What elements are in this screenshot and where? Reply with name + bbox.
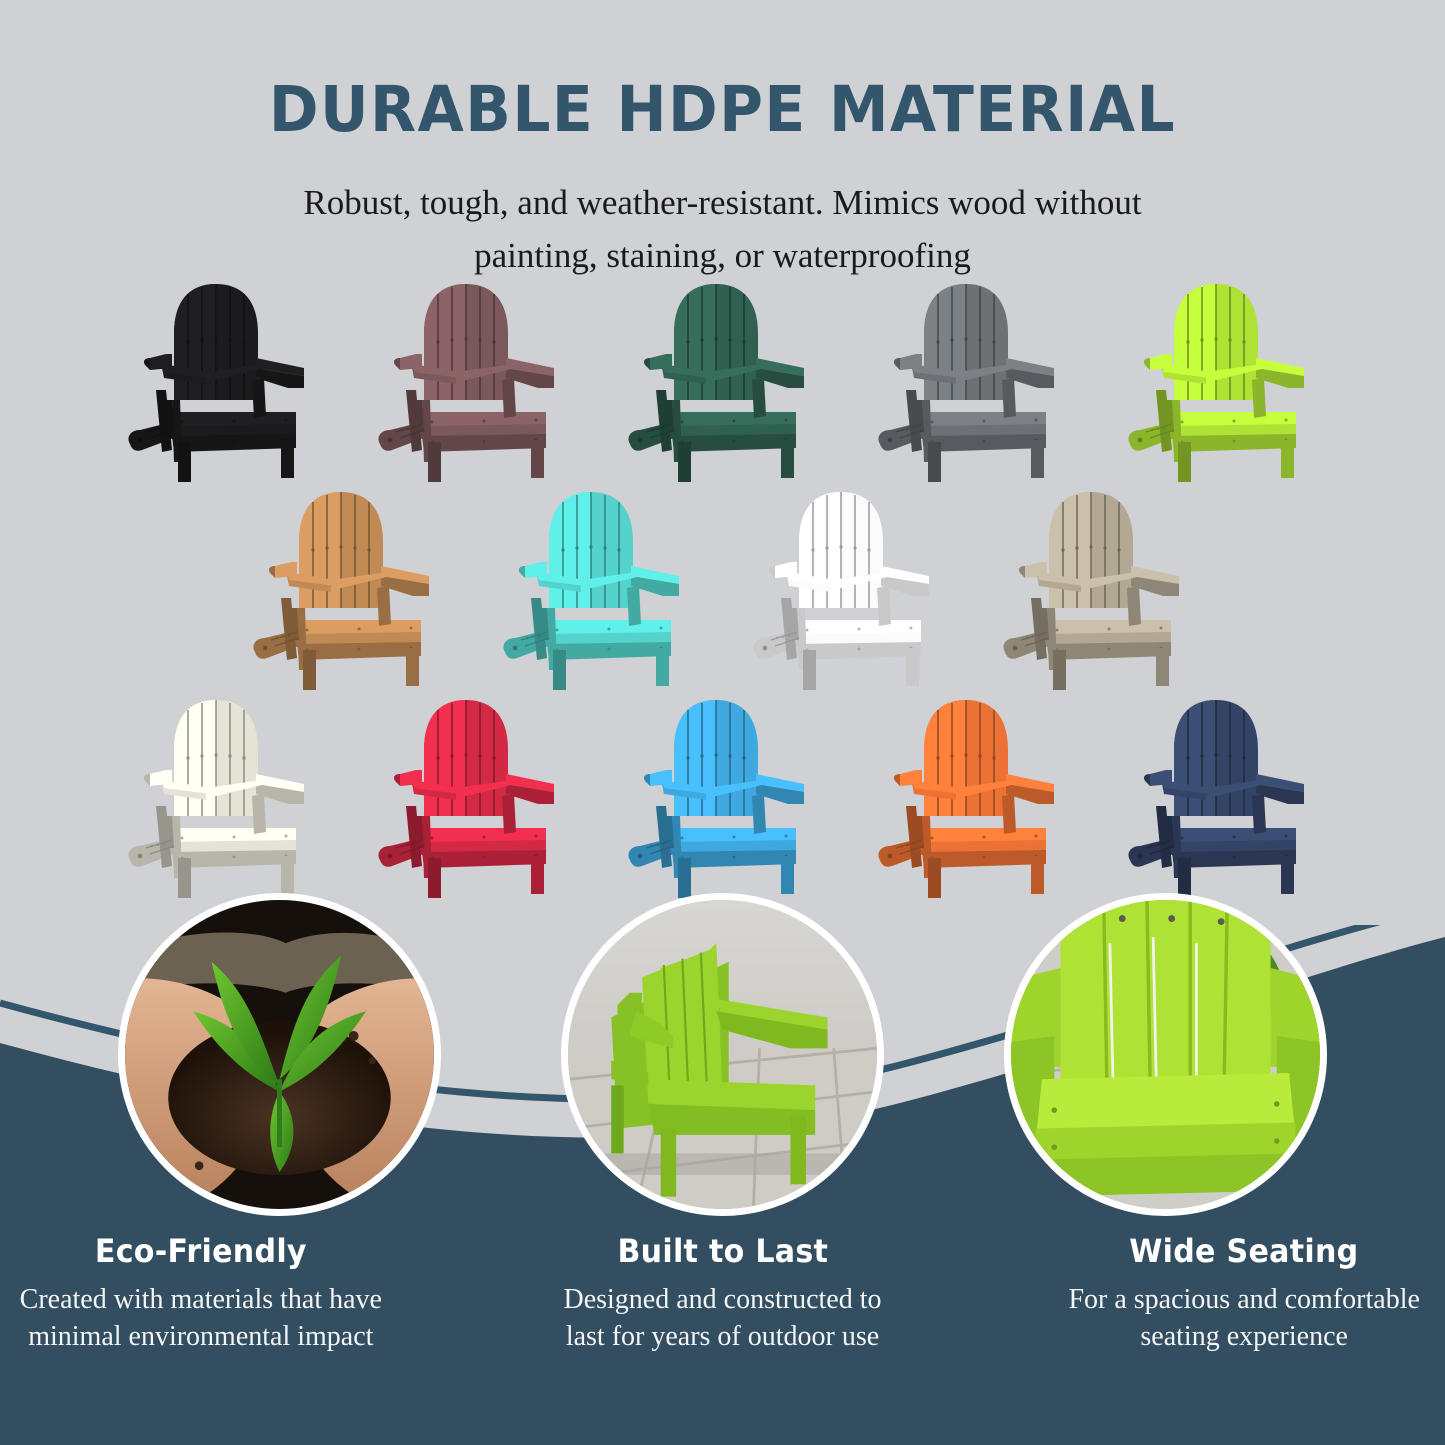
- chair-swatch-orange[interactable]: [866, 688, 1080, 900]
- feature-body: Created with materials that have minimal…: [0, 1282, 402, 1356]
- feature-body-line-1: For a spacious and comfortable: [1043, 1282, 1445, 1319]
- chair-back: [424, 284, 508, 400]
- chair-color-grid: [0, 272, 1445, 900]
- feature-body-line-2: last for years of outdoor use: [522, 1319, 924, 1356]
- chair-back: [1049, 492, 1133, 608]
- feature-body: For a spacious and comfortable seating e…: [1043, 1282, 1445, 1356]
- feature-body-line-2: seating experience: [1043, 1319, 1445, 1356]
- chair-svg: [366, 272, 580, 484]
- chair-back: [1174, 284, 1258, 400]
- chair-svg: [491, 480, 705, 692]
- chair-svg: [991, 480, 1205, 692]
- chair-swatch-weathered-wood[interactable]: [991, 480, 1205, 692]
- chair-swatch-red[interactable]: [366, 688, 580, 900]
- chair-svg: [116, 272, 330, 484]
- feature-body: Designed and constructed to last for yea…: [522, 1282, 924, 1356]
- header: DURABLE HDPE MATERIAL Robust, tough, and…: [0, 0, 1445, 282]
- page-subtitle: Robust, tough, and weather-resistant. Mi…: [0, 177, 1445, 282]
- chair-back: [924, 700, 1008, 816]
- chair-row-1: [0, 272, 1445, 484]
- chair-row-2: [0, 480, 1445, 692]
- chair-svg: [616, 272, 830, 484]
- feature-body-line-1: Designed and constructed to: [522, 1282, 924, 1319]
- feature-photo-built-to-last: [561, 893, 884, 1216]
- subtitle-line-1: Robust, tough, and weather-resistant. Mi…: [0, 177, 1445, 230]
- chair-svg: [1116, 272, 1330, 484]
- chair-swatch-black[interactable]: [116, 272, 330, 484]
- chair-back: [299, 492, 383, 608]
- feature-photo-row: [0, 893, 1445, 1216]
- feature-caption-eco-friendly: Eco-Friendly Created with materials that…: [0, 1232, 402, 1356]
- lime-chair-on-patio-icon: [568, 900, 877, 1209]
- chair-back: [174, 284, 258, 400]
- chair-svg: [616, 688, 830, 900]
- chair-svg: [866, 272, 1080, 484]
- chair-back: [549, 492, 633, 608]
- feature-caption-wide-seating: Wide Seating For a spacious and comforta…: [1043, 1232, 1445, 1356]
- page-title: DURABLE HDPE MATERIAL: [36, 78, 1409, 141]
- closeup-lime-chair-seat-icon: [1011, 900, 1320, 1209]
- feature-caption-row: Eco-Friendly Created with materials that…: [0, 1232, 1445, 1356]
- chair-swatch-white[interactable]: [741, 480, 955, 692]
- chair-back: [674, 700, 758, 816]
- chair-swatch-gray[interactable]: [866, 272, 1080, 484]
- chair-back: [924, 284, 1008, 400]
- chair-swatch-light-blue[interactable]: [616, 688, 830, 900]
- feature-caption-built-to-last: Built to Last Designed and constructed t…: [522, 1232, 924, 1356]
- feature-body-line-1: Created with materials that have: [0, 1282, 402, 1319]
- product-infographic: DURABLE HDPE MATERIAL Robust, tough, and…: [0, 0, 1445, 1445]
- chair-svg: [241, 480, 455, 692]
- chair-svg: [1116, 688, 1330, 900]
- chair-back: [174, 700, 258, 816]
- chair-swatch-brown[interactable]: [366, 272, 580, 484]
- hands-holding-soil-with-seedling-icon: [125, 900, 434, 1209]
- chair-back: [1174, 700, 1258, 816]
- chair-back: [674, 284, 758, 400]
- chair-back: [424, 700, 508, 816]
- chair-svg: [366, 688, 580, 900]
- chair-swatch-ivory[interactable]: [116, 688, 330, 900]
- chair-svg: [741, 480, 955, 692]
- feature-photo-eco-friendly: [118, 893, 441, 1216]
- chair-swatch-navy-blue[interactable]: [1116, 688, 1330, 900]
- chair-svg: [866, 688, 1080, 900]
- chair-swatch-turquoise[interactable]: [491, 480, 705, 692]
- chair-svg: [116, 688, 330, 900]
- chair-back: [799, 492, 883, 608]
- chair-swatch-dark-green[interactable]: [616, 272, 830, 484]
- feature-body-line-2: minimal environmental impact: [0, 1319, 402, 1356]
- feature-title: Wide Seating: [1055, 1232, 1433, 1270]
- chair-swatch-teak[interactable]: [241, 480, 455, 692]
- feature-title: Built to Last: [534, 1232, 912, 1270]
- feature-title: Eco-Friendly: [12, 1232, 390, 1270]
- chair-swatch-lime-green[interactable]: [1116, 272, 1330, 484]
- feature-photo-wide-seating: [1004, 893, 1327, 1216]
- chair-row-3: [0, 688, 1445, 900]
